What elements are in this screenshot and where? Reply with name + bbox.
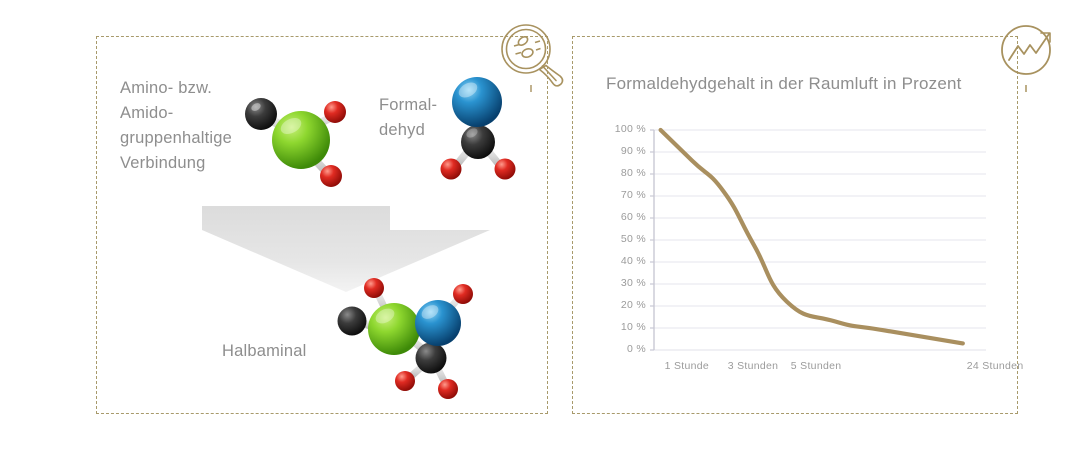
- chart-y-tick-label: 100 %: [604, 123, 646, 135]
- chart-canvas: [600, 120, 1000, 385]
- chart-y-tick-label: 10 %: [604, 321, 646, 333]
- chart-y-tick-label: 70 %: [604, 189, 646, 201]
- chart-x-tick-label: 1 Stunde: [665, 360, 709, 372]
- halbaminal-molecule: [326, 277, 492, 399]
- magnifier-microbe-icon: [497, 22, 567, 94]
- chart-y-tick-label: 20 %: [604, 299, 646, 311]
- chart-x-tick-label: 24 Stunden: [967, 360, 1024, 372]
- infographic-canvas: Amino- bzw. Amido- gruppenhaltige Verbin…: [0, 0, 1080, 462]
- chart-y-tick-label: 90 %: [604, 145, 646, 157]
- chart-y-tick-label: 80 %: [604, 167, 646, 179]
- chart-y-tick-label: 60 %: [604, 211, 646, 223]
- chart-y-tick-label: 0 %: [604, 343, 646, 355]
- chart-title: Formaldehydgehalt in der Raumluft in Pro…: [606, 74, 962, 94]
- chart-y-tick-label: 40 %: [604, 255, 646, 267]
- trend-chart-icon: [992, 20, 1064, 94]
- chart-series-line: [661, 130, 963, 343]
- chart-x-tick-label: 5 Stunden: [791, 360, 842, 372]
- amino-compound-molecule: [232, 84, 364, 196]
- chart-plot-area: 100 %90 %80 %70 %60 %50 %40 %30 %20 %10 …: [600, 120, 1000, 385]
- chart-y-tick-label: 50 %: [604, 233, 646, 245]
- chart-y-tick-label: 30 %: [604, 277, 646, 289]
- chart-x-tick-label: 3 Stunden: [728, 360, 779, 372]
